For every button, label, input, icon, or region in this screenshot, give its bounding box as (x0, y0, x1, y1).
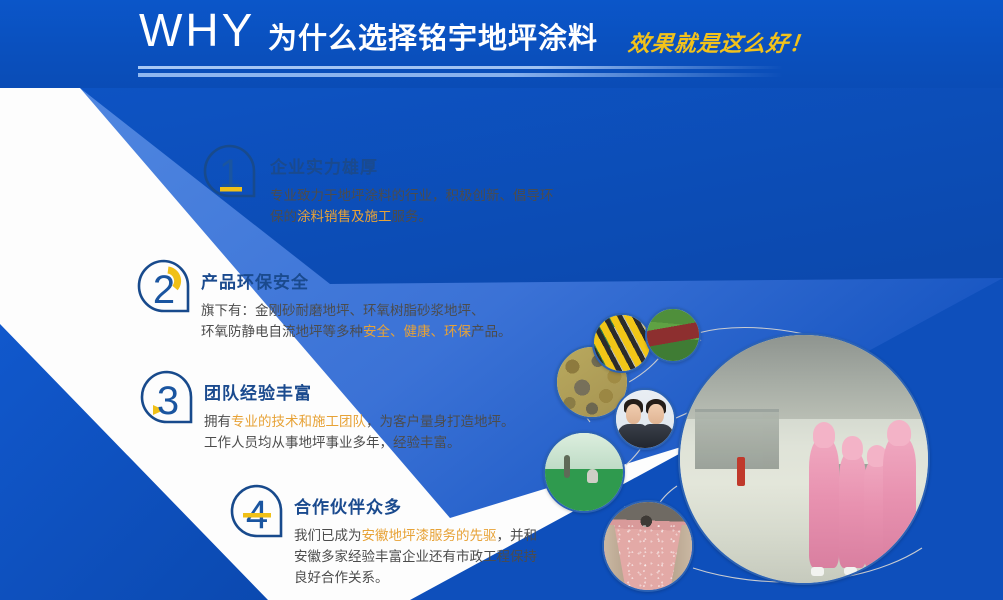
highlighted-phrase: 安全、健康、环保 (363, 324, 471, 340)
body-line: 拥有专业的技术和施工团队，为客户量身打造地坪。 (204, 412, 564, 433)
body-text: 旗下有：金刚砂耐磨地坪、环氧树脂砂浆地坪、 (201, 303, 485, 319)
body-text: 工作人员均从事地坪事业多年，经验丰富。 (204, 435, 461, 451)
body-text: 保的 (270, 209, 297, 225)
number-badge-4: 4 (228, 483, 286, 539)
body-line: 安徽多家经验丰富企业还有市政工程保持 (294, 547, 594, 568)
feature-3-body: 拥有专业的技术和施工团队，为客户量身打造地坪。工作人员均从事地坪事业多年，经验丰… (204, 412, 564, 454)
body-line: 旗下有：金刚砂耐磨地坪、环氧树脂砂浆地坪、 (201, 301, 561, 322)
feature-2-text: 产品环保安全 旗下有：金刚砂耐磨地坪、环氧树脂砂浆地坪、环氧防静电自流地坪等多种… (201, 273, 561, 343)
body-text: ，为客户量身打造地坪。 (366, 414, 515, 430)
body-line: 良好合作关系。 (294, 568, 594, 589)
photo-collage (530, 300, 1003, 600)
pink-pavement-image (604, 502, 692, 590)
why-heading: WHY (139, 6, 255, 54)
collage-photo-hazard-stripes[interactable] (592, 313, 652, 373)
header-title-cn: 为什么选择铭宇地坪涂料 (268, 22, 598, 54)
body-line: 我们已成为安徽地坪漆服务的先驱，并和 (294, 526, 594, 547)
collage-photo-cleanroom-main[interactable] (678, 333, 930, 585)
feature-1-body: 专业致力于地坪涂料的行业，积极创新、倡导环保的涂料销售及施工服务。 (270, 186, 600, 228)
body-text: 安徽多家经验丰富企业还有市政工程保持 (294, 549, 537, 565)
highlighted-phrase: 安徽地坪漆服务的先驱 (362, 528, 497, 544)
body-text: 专业致力于地坪涂料的行业，积极创新、倡导环 (270, 188, 554, 204)
hazard-stripe-image (594, 315, 650, 371)
number-badge-2: 2 (135, 258, 193, 314)
feature-4-heading: 合作伙伴众多 (294, 498, 594, 518)
feature-3-text: 团队经验丰富 拥有专业的技术和施工团队，为客户量身打造地坪。工作人员均从事地坪事… (204, 384, 564, 454)
body-text: 环氧防静电自流地坪等多种 (201, 324, 363, 340)
body-text: 产品。 (471, 324, 512, 340)
feature-2-heading: 产品环保安全 (201, 273, 561, 293)
header-divider-line-1 (138, 66, 783, 69)
body-text: ，并和 (497, 528, 538, 544)
banner-canvas: WHY 为什么选择铭宇地坪涂料 效果就是这么好！ (0, 0, 1003, 600)
feature-1-text: 企业实力雄厚 专业致力于地坪涂料的行业，积极创新、倡导环保的涂料销售及施工服务。 (270, 158, 600, 228)
badge-number-text: 3 (157, 379, 179, 423)
feature-1-heading: 企业实力雄厚 (270, 158, 600, 178)
body-line: 保的涂料销售及施工服务。 (270, 207, 600, 228)
body-text: 我们已成为 (294, 528, 362, 544)
feature-4-text: 合作伙伴众多 我们已成为安徽地坪漆服务的先驱，并和安徽多家经验丰富企业还有市政工… (294, 498, 594, 589)
feature-2-body: 旗下有：金刚砂耐磨地坪、环氧树脂砂浆地坪、环氧防静电自流地坪等多种安全、健康、环… (201, 301, 561, 343)
highlighted-phrase: 专业的技术和施工团队 (231, 414, 366, 430)
team-portrait-image (616, 390, 674, 448)
number-badge-3: 3 (138, 369, 196, 425)
body-text: 良好合作关系。 (294, 570, 389, 586)
body-text: 服务。 (392, 209, 433, 225)
highlighted-phrase: 涂料销售及施工 (297, 209, 392, 225)
number-badge-1: 1 (201, 143, 259, 199)
collage-photo-team-portrait[interactable] (614, 388, 676, 450)
body-line: 环氧防静电自流地坪等多种安全、健康、环保产品。 (201, 322, 561, 343)
feature-4-body: 我们已成为安徽地坪漆服务的先驱，并和安徽多家经验丰富企业还有市政工程保持良好合作… (294, 526, 594, 589)
cleanroom-image (680, 335, 928, 583)
body-line: 专业致力于地坪涂料的行业，积极创新、倡导环 (270, 186, 600, 207)
header-slogan: 效果就是这么好！ (627, 32, 814, 58)
body-text: 拥有 (204, 414, 231, 430)
body-line: 工作人员均从事地坪事业多年，经验丰富。 (204, 433, 564, 454)
header-band: WHY 为什么选择铭宇地坪涂料 效果就是这么好！ (0, 0, 1003, 88)
header-divider-line-2 (138, 73, 783, 77)
badge-number-text: 2 (153, 268, 175, 312)
feature-3-heading: 团队经验丰富 (204, 384, 564, 404)
